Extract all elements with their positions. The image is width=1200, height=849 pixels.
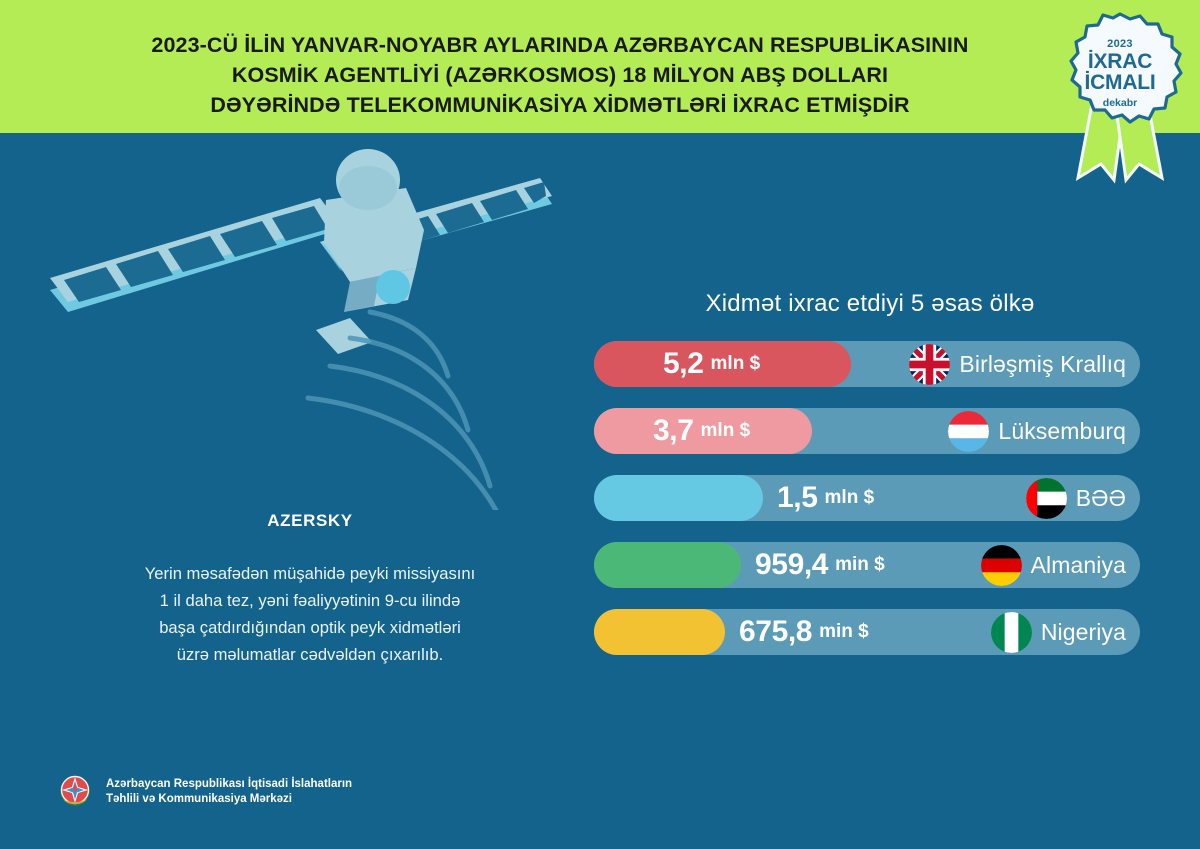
page-title: 2023-CÜ İLİN YANVAR-NOYABR AYLARINDA AZƏ… — [50, 30, 1070, 120]
rosette-icon — [1048, 8, 1192, 186]
bar-value-label: 5,2mln $ — [663, 341, 760, 387]
bar-value-number: 3,7 — [653, 414, 694, 448]
country-name: Almaniya — [1031, 552, 1126, 579]
uae-flag — [1026, 478, 1067, 519]
azersky-heading: AZERSKY — [60, 511, 560, 531]
azersky-line-1: Yerin məsafədən müşahidə peyki missiyası… — [50, 560, 570, 587]
bar-fill — [594, 609, 725, 655]
germany-flag — [981, 545, 1022, 586]
country-label-group: Lüksemburq — [948, 408, 1126, 454]
uk-flag — [909, 344, 950, 385]
country-name: BƏƏ — [1076, 485, 1126, 512]
bar-row: 5,2mln $Birləşmiş Krallıq — [594, 341, 1140, 387]
bar-value-label: 959,4min $ — [755, 542, 885, 588]
nigeria-flag — [991, 612, 1032, 653]
nigeria-flag — [991, 612, 1032, 653]
country-label-group: Almaniya — [981, 542, 1126, 588]
uae-flag — [1026, 478, 1067, 519]
footer-line-2: Təhlili və Kommunikasiya Mərkəzi — [106, 792, 352, 808]
bar-row: 959,4min $Almaniya — [594, 542, 1140, 588]
country-name: Lüksemburq — [998, 418, 1126, 445]
bar-row: 675,8min $Nigeriya — [594, 609, 1140, 655]
bar-row: 1,5mln $BƏƏ — [594, 475, 1140, 521]
azerbaijan-emblem-icon — [55, 772, 95, 812]
bar-value-unit: mln $ — [825, 487, 875, 509]
infographic-canvas: 2023-CÜ İLİN YANVAR-NOYABR AYLARINDA AZƏ… — [0, 0, 1200, 849]
satellite-fin-lower — [316, 318, 372, 354]
export-review-badge: 2023 İXRAC İCMALI dekabr — [1048, 8, 1192, 186]
country-label-group: Nigeriya — [991, 609, 1126, 655]
bar-value-label: 3,7mln $ — [653, 408, 750, 454]
footer-organisation: Azərbaycan Respublikası İqtisadi İslahat… — [106, 777, 352, 808]
page-title-line-3: DƏYƏRİNDƏ TELEKOMMUNİKASİYA XİDMƏTLƏRİ İ… — [50, 90, 1070, 120]
bar-value-unit: mln $ — [711, 353, 761, 375]
bar-value-unit: min $ — [835, 554, 885, 576]
satellite-antenna-ball — [376, 270, 410, 304]
page-title-line-1: 2023-CÜ İLİN YANVAR-NOYABR AYLARINDA AZƏ… — [50, 30, 1070, 60]
satellite-illustration — [20, 130, 580, 510]
country-label-group: BƏƏ — [1026, 475, 1126, 521]
satellite-body-shade — [344, 276, 380, 312]
bar-value-number: 1,5 — [777, 481, 818, 515]
left-panel-cells — [64, 206, 328, 302]
azersky-line-3: başa çatdırdığından optik peyk xidmətlər… — [50, 614, 570, 641]
bar-value-number: 675,8 — [739, 615, 812, 649]
country-name: Birləşmiş Krallıq — [959, 351, 1126, 378]
page-title-line-2: KOSMİK AGENTLİYİ (AZƏRKOSMOS) 18 MİLYON … — [50, 60, 1070, 90]
country-label-group: Birləşmiş Krallıq — [909, 341, 1126, 387]
uk-flag — [909, 344, 950, 385]
bar-value-unit: min $ — [819, 621, 869, 643]
country-bar-chart: 5,2mln $Birləşmiş Krallıq3,7mln $Lüksemb… — [594, 341, 1140, 651]
germany-flag — [981, 545, 1022, 586]
header-banner: 2023-CÜ İLİN YANVAR-NOYABR AYLARINDA AZƏ… — [0, 0, 1200, 133]
country-name: Nigeriya — [1041, 619, 1126, 646]
footer: Azərbaycan Respublikası İqtisadi İslahat… — [55, 772, 352, 812]
bar-fill — [594, 542, 741, 588]
luxembourg-flag — [948, 411, 989, 452]
bar-fill — [594, 475, 763, 521]
azersky-line-2: 1 il daha tez, yəni fəaliyyətinin 9-cu i… — [50, 587, 570, 614]
azersky-description: Yerin məsafədən müşahidə peyki missiyası… — [50, 560, 570, 668]
satellite-dish-shade — [339, 166, 397, 210]
azersky-line-4: üzrə məlumatlar cədvəldən çıxarılıb. — [50, 641, 570, 668]
footer-line-1: Azərbaycan Respublikası İqtisadi İslahat… — [106, 777, 352, 793]
chart-title: Xidmət ixrac etdiyi 5 əsas ölkə — [600, 290, 1140, 318]
luxembourg-flag — [948, 411, 989, 452]
bar-value-unit: mln $ — [701, 420, 751, 442]
bar-row: 3,7mln $Lüksemburq — [594, 408, 1140, 454]
bar-value-label: 1,5mln $ — [777, 475, 874, 521]
bar-value-label: 675,8min $ — [739, 609, 869, 655]
bar-value-number: 5,2 — [663, 347, 704, 381]
bar-value-number: 959,4 — [755, 548, 828, 582]
